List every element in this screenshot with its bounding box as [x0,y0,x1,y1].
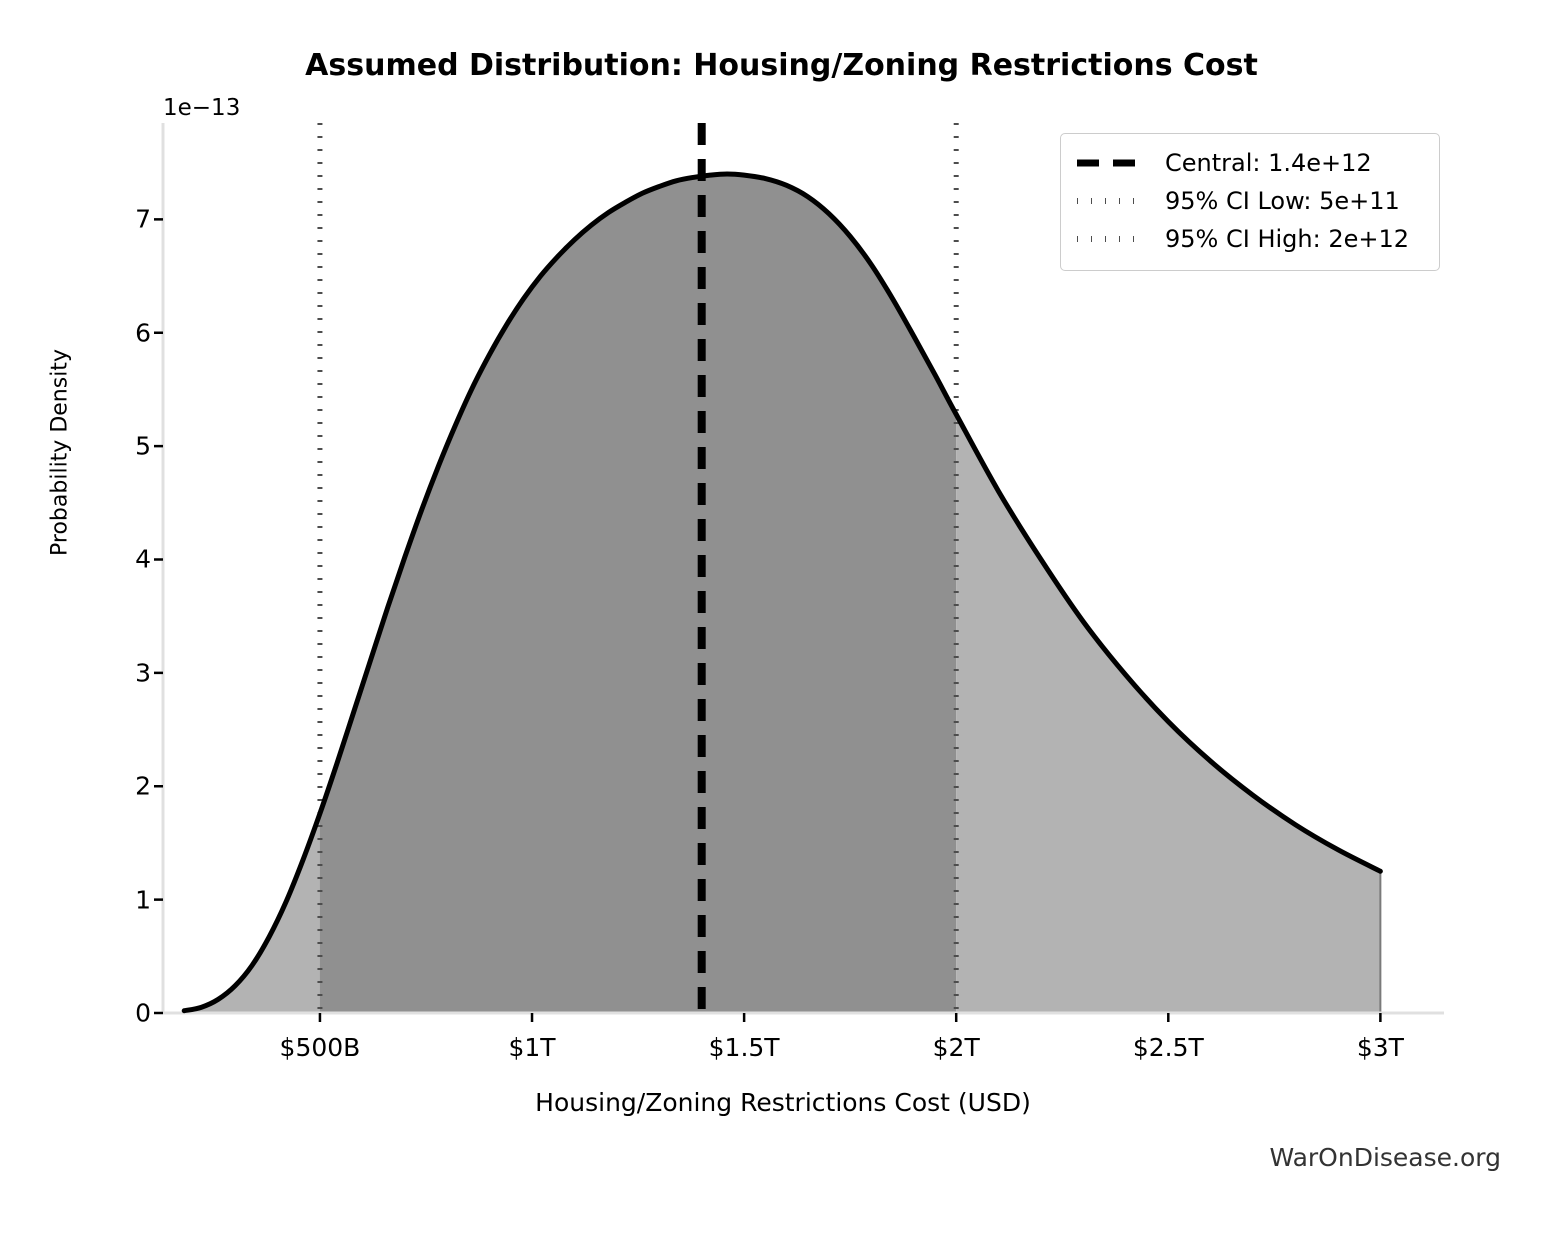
x-tick-label: $1T [508,1033,555,1062]
y-tick-label: 4 [135,545,151,574]
legend-item-ci-high: 95% CI High: 2e+12 [1075,220,1425,258]
x-tick-label: $2.5T [1133,1033,1204,1062]
figure-canvas: Assumed Distribution: Housing/Zoning Res… [0,0,1563,1234]
y-tick-label: 2 [135,772,151,801]
legend-item-ci-low: 95% CI Low: 5e+11 [1075,182,1425,220]
y-tick-label: 7 [135,205,151,234]
y-tick-label: 5 [135,432,151,461]
legend-label-ci-high: 95% CI High: 2e+12 [1165,225,1409,253]
dotted-line-swatch-icon [1075,193,1149,209]
dotted-line-swatch-icon [1075,231,1149,247]
attribution-footer: WarOnDisease.org [1269,1143,1501,1172]
y-tick-label: 6 [135,318,151,347]
legend-label-ci-low: 95% CI Low: 5e+11 [1165,187,1400,215]
y-tick-label: 3 [135,658,151,687]
y-tick-label: 0 [135,999,151,1028]
legend-label-central: Central: 1.4e+12 [1165,149,1372,177]
x-tick-label: $3T [1357,1033,1404,1062]
legend-item-central: Central: 1.4e+12 [1075,144,1425,182]
legend: Central: 1.4e+12 95% CI Low: 5e+11 95% C… [1060,133,1440,271]
y-tick-label: 1 [135,885,151,914]
x-tick-label: $500B [280,1033,361,1062]
x-tick-label: $2T [933,1033,980,1062]
dashed-line-swatch-icon [1075,155,1149,171]
x-tick-label: $1.5T [709,1033,780,1062]
